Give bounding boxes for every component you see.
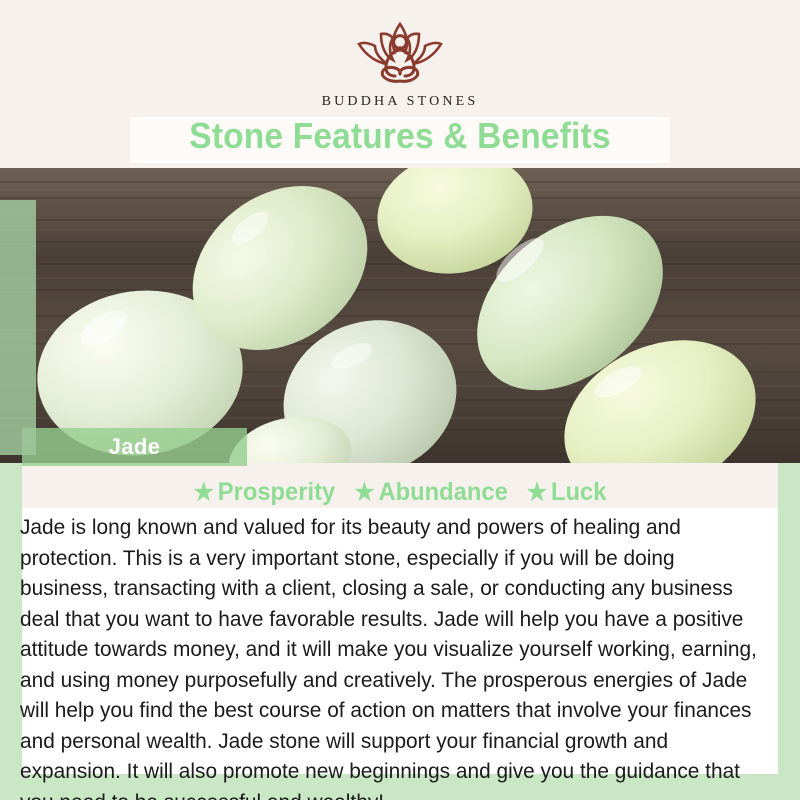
- brand-name: BUDDHA STONES: [0, 94, 800, 110]
- stone-photo-image: [0, 168, 800, 463]
- star-icon-3: ★: [527, 479, 547, 506]
- benefit-luck: Luck: [551, 478, 606, 506]
- stone-photo: [0, 168, 800, 463]
- page-title: Stone Features & Benefits: [28, 112, 772, 160]
- brand-logo: BUDDHA STONES: [0, 18, 800, 110]
- star-icon-2: ★: [354, 479, 374, 506]
- description-text: Jade is long known and valued for its be…: [20, 512, 765, 800]
- stone-caption: Jade: [22, 428, 247, 466]
- lotus-meditation-icon: [325, 18, 475, 90]
- decor-band-left-over-photo: [0, 200, 36, 455]
- benefit-prosperity: Prosperity: [218, 478, 335, 506]
- benefit-abundance: Abundance: [378, 478, 507, 506]
- header: BUDDHA STONES Stone Features & Benefits: [0, 0, 800, 168]
- benefits-row: ★Prosperity★Abundance★Luck: [20, 478, 780, 507]
- star-icon-1: ★: [194, 479, 214, 506]
- infographic-card: BUDDHA STONES Stone Features & Benefits: [0, 0, 800, 800]
